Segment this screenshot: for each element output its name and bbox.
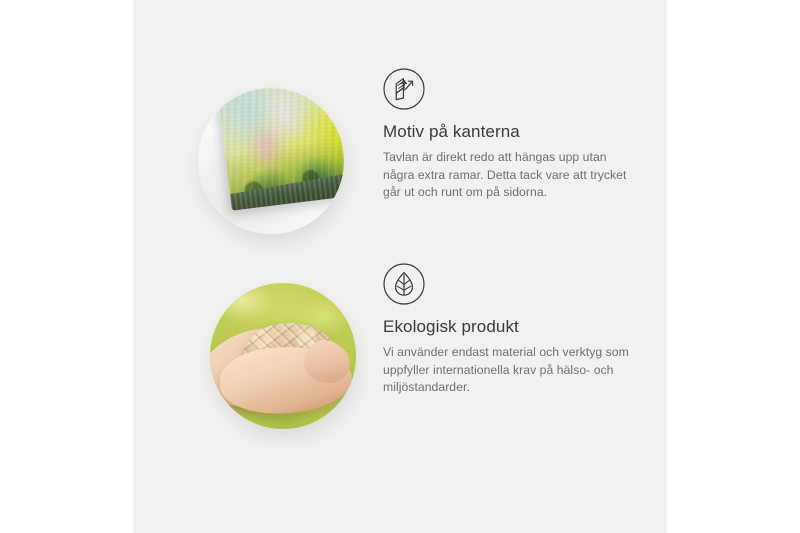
hands-holding-wood-chips-photo — [210, 283, 356, 429]
feature-block-ekologisk-produkt: Ekologisk produkt Vi använder endast mat… — [133, 255, 667, 455]
canvas-photo-backdrop — [198, 88, 344, 234]
leaf-icon — [383, 263, 425, 305]
feature-title: Ekologisk produkt — [383, 316, 663, 338]
canvas-slab — [217, 88, 344, 211]
feature-text-column: Motiv på kanterna Tavlan är direkt redo … — [383, 68, 663, 202]
feature-title: Motiv på kanterna — [383, 121, 663, 143]
content-panel: Motiv på kanterna Tavlan är direkt redo … — [133, 0, 667, 533]
product-feature-panel: Motiv på kanterna Tavlan är direkt redo … — [0, 0, 800, 533]
feature-body: Tavlan är direkt redo att hängas upp uta… — [383, 149, 635, 202]
feature-text-column: Ekologisk produkt Vi använder endast mat… — [383, 263, 663, 397]
canvas-wrapped-edge-icon — [383, 68, 425, 110]
feature-body: Vi använder endast material och verktyg … — [383, 344, 635, 397]
canvas-print-corner-photo — [198, 88, 344, 234]
eco-photo-backdrop — [210, 283, 356, 429]
feature-block-motiv-pa-kanterna: Motiv på kanterna Tavlan är direkt redo … — [133, 60, 667, 260]
